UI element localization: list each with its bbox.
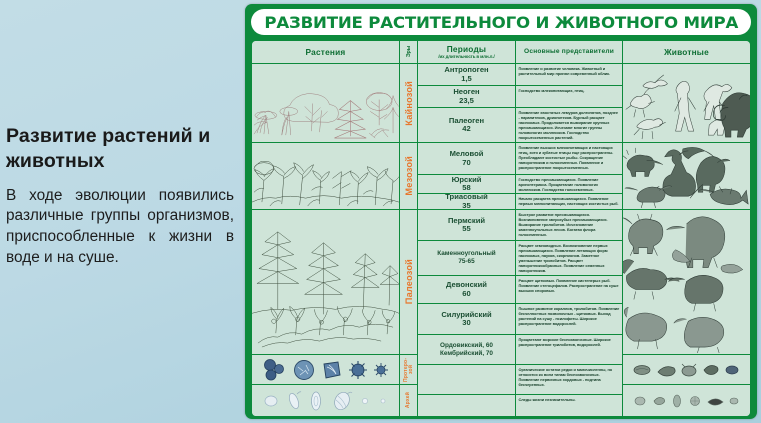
desc-cell-silurian: Пышное развитие кораллов, трилобитов. По… [516,304,622,335]
paleozoic-animals-art [623,210,750,354]
plants-illustration-cenozoic [252,64,399,143]
animals-illustration-cenozoic [623,64,750,143]
desc-cell-cretaceous: Появление высших млекопитающих и настоящ… [516,143,622,175]
period-cell-silurian: Силурийский 30 [418,304,515,335]
plants-illustration-column [252,64,400,416]
mesozoic-plants-art [252,143,399,209]
plants-illustration-paleozoic [252,210,399,355]
period-cell-devonian: Девонский 60 [418,276,515,304]
desc-cell-devonian: Расцвет щитковых. Появление кистеперых р… [516,276,622,304]
proterozoic-microbes-art [252,355,399,384]
period-cell-cretaceous: Меловой 70 [418,143,515,175]
poster-title: РАЗВИТИЕ РАСТИТЕЛЬНОГО И ЖИВОТНОГО МИРА [264,13,738,32]
paleozoic-plants-art [252,210,399,354]
column-header-plants: Растения [252,41,400,63]
mesozoic-animals-art [623,143,750,209]
column-header-animals: Животные [623,41,750,63]
periods-column: Антропоген 1,5 Неоген 23,5 Палеоген 42 М… [418,64,516,416]
slide-body-text: В ходе эволюции появились различные груп… [6,186,234,269]
era-cell-proterozoic: Протеро-зой [400,355,417,385]
era-cell-cenozoic: Кайнозой [400,64,417,143]
period-cell-anthropogene: Антропоген 1,5 [418,64,515,86]
table-header-row: Растения Эры Периоды /их длительность в … [252,41,750,64]
desc-cell-neogene: Господство млекопитающих, птиц. [516,86,622,108]
desc-cell-proterozoic: Органические остатки редки и малочисленн… [516,365,622,395]
poster-title-banner: РАЗВИТИЕ РАСТИТЕЛЬНОГО И ЖИВОТНОГО МИРА [251,9,751,35]
eras-column: Кайнозой Мезозой Палеозой Протеро-зой Ар… [400,64,418,416]
desc-cell-ordovician-cambrian: Процветают морские беспозвоночные. Широк… [516,335,622,365]
animals-illustration-paleozoic [623,210,750,355]
representatives-column: Появление и развитие человека. Животный … [516,64,623,416]
desc-cell-paleogene: Появление хвостатых лемуров долгопятов, … [516,108,622,143]
slide-text-panel: Развитие растений и животных В ходе эвол… [6,124,234,268]
column-header-periods: Периоды /их длительность в млн.л./ [418,41,516,63]
period-cell-proterozoic-blank [418,365,515,395]
period-cell-triassic: Триасовый 35 [418,194,515,210]
column-header-representatives: Основные представители [516,41,623,63]
proterozoic-animals-art [623,355,750,384]
period-cell-permian: Пермский 55 [418,210,515,241]
plants-illustration-proterozoic [252,355,399,385]
cenozoic-plants-art [252,64,399,142]
desc-cell-anthropogene: Появление и развитие человека. Животный … [516,64,622,86]
period-cell-carboniferous: Каменноугольный 75-65 [418,241,515,276]
era-cell-paleozoic: Палеозой [400,210,417,355]
desc-cell-triassic: Начало расцвета пресмыкающихся. Появлени… [516,194,622,210]
era-cell-mesozoic: Мезозой [400,143,417,210]
animals-illustration-proterozoic [623,355,750,385]
desc-cell-permian: Быстрое развитие пресмыкающихся. Возникн… [516,210,622,241]
evolution-table: Растения Эры Периоды /их длительность в … [251,40,751,417]
cenozoic-animals-art [623,64,750,142]
column-header-eras: Эры [400,41,418,63]
desc-cell-jurassic: Господство пресмыкающихся. Появление арх… [516,175,622,194]
animals-illustration-archean [623,385,750,416]
archean-animals-art [623,385,750,416]
period-cell-archean-blank [418,395,515,416]
archean-microbes-art [252,385,399,416]
plants-illustration-archean [252,385,399,416]
period-cell-jurassic: Юрский 58 [418,175,515,194]
desc-cell-archean: Следы жизни незначительны. [516,395,622,416]
poster-panel: РАЗВИТИЕ РАСТИТЕЛЬНОГО И ЖИВОТНОГО МИРА … [245,4,757,419]
animals-illustration-mesozoic [623,143,750,210]
page-title: Развитие растений и животных [6,124,234,175]
plants-illustration-mesozoic [252,143,399,210]
period-cell-paleogene: Палеоген 42 [418,108,515,143]
animals-illustration-column [623,64,750,416]
period-cell-ordovician-cambrian: Ордовикский, 60 Кембрийский, 70 [418,335,515,365]
era-cell-archean: Архей [400,385,417,416]
period-cell-neogene: Неоген 23,5 [418,86,515,108]
desc-cell-carboniferous: Расцвет земноводных. Возникновение первы… [516,241,622,276]
